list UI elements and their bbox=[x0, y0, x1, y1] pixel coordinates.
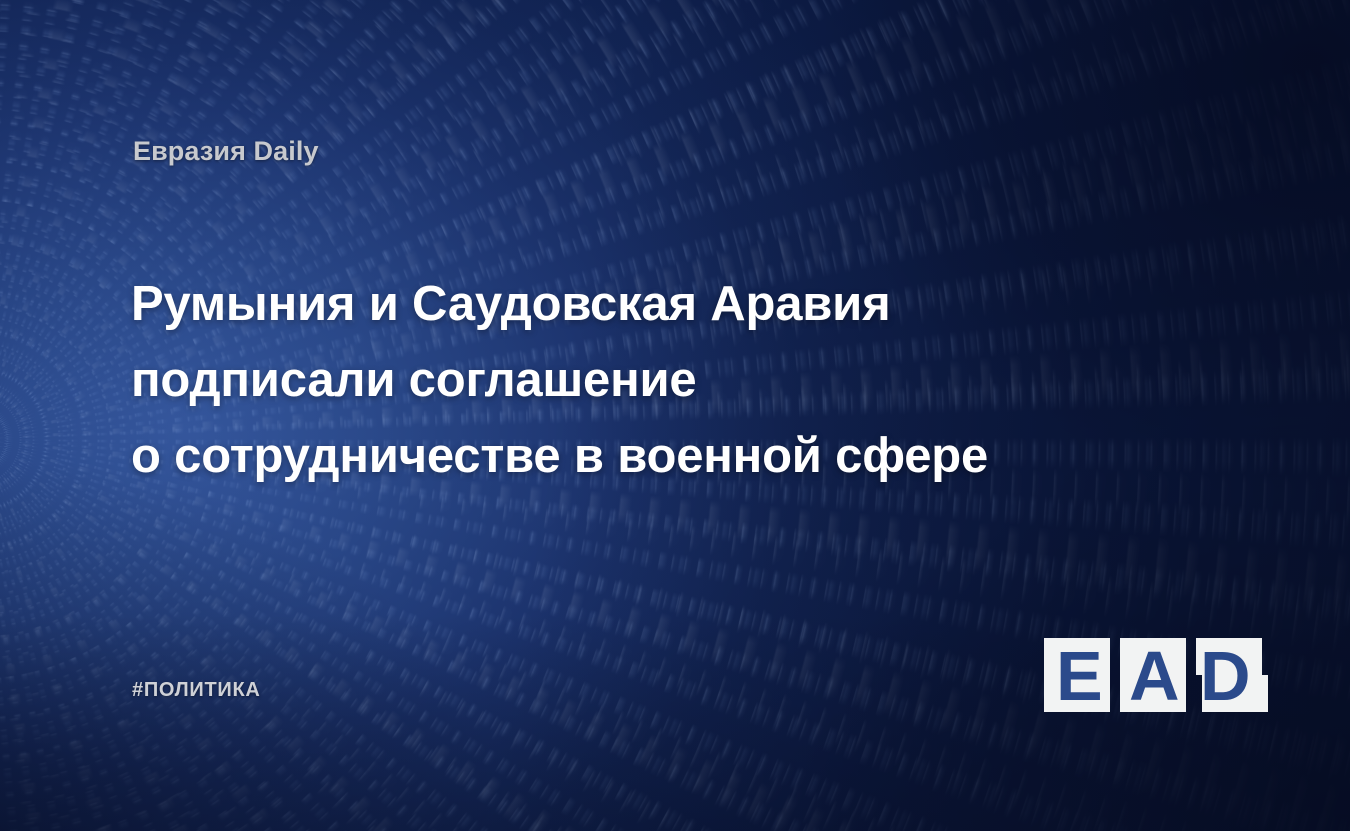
ead-logo-tile-d-bottom: D bbox=[1202, 675, 1268, 712]
ead-logo-letter-e: E bbox=[1056, 641, 1103, 711]
news-card: Евразия Daily Румыния и Саудовская Арави… bbox=[0, 0, 1350, 831]
card-content: Евразия Daily Румыния и Саудовская Арави… bbox=[0, 0, 1350, 831]
ead-logo-letter-d-top: D bbox=[1200, 641, 1251, 675]
headline-line-2: подписали соглашение bbox=[131, 342, 1141, 418]
ead-logo-text: EAD bbox=[1044, 624, 1045, 625]
headline-line-3: о сотрудничестве в военной сфере bbox=[131, 418, 1141, 494]
brand-logotype: Евразия Daily bbox=[133, 136, 319, 167]
headline-line-1: Румыния и Саудовская Аравия bbox=[131, 266, 1141, 342]
ead-logo-tile-e: E bbox=[1044, 638, 1110, 712]
page-title: Румыния и Саудовская Аравия подписали со… bbox=[131, 266, 1141, 494]
category-hashtag[interactable]: #ПОЛИТИКА bbox=[132, 679, 261, 702]
ead-logo-tile-a: A bbox=[1120, 638, 1186, 712]
ead-logo-letter-a: A bbox=[1129, 641, 1180, 711]
ead-logo-letter-d-bottom: D bbox=[1202, 675, 1251, 711]
ead-logo: E A D D EAD bbox=[1044, 624, 1230, 720]
ead-logo-tile-d-top: D bbox=[1196, 638, 1262, 675]
